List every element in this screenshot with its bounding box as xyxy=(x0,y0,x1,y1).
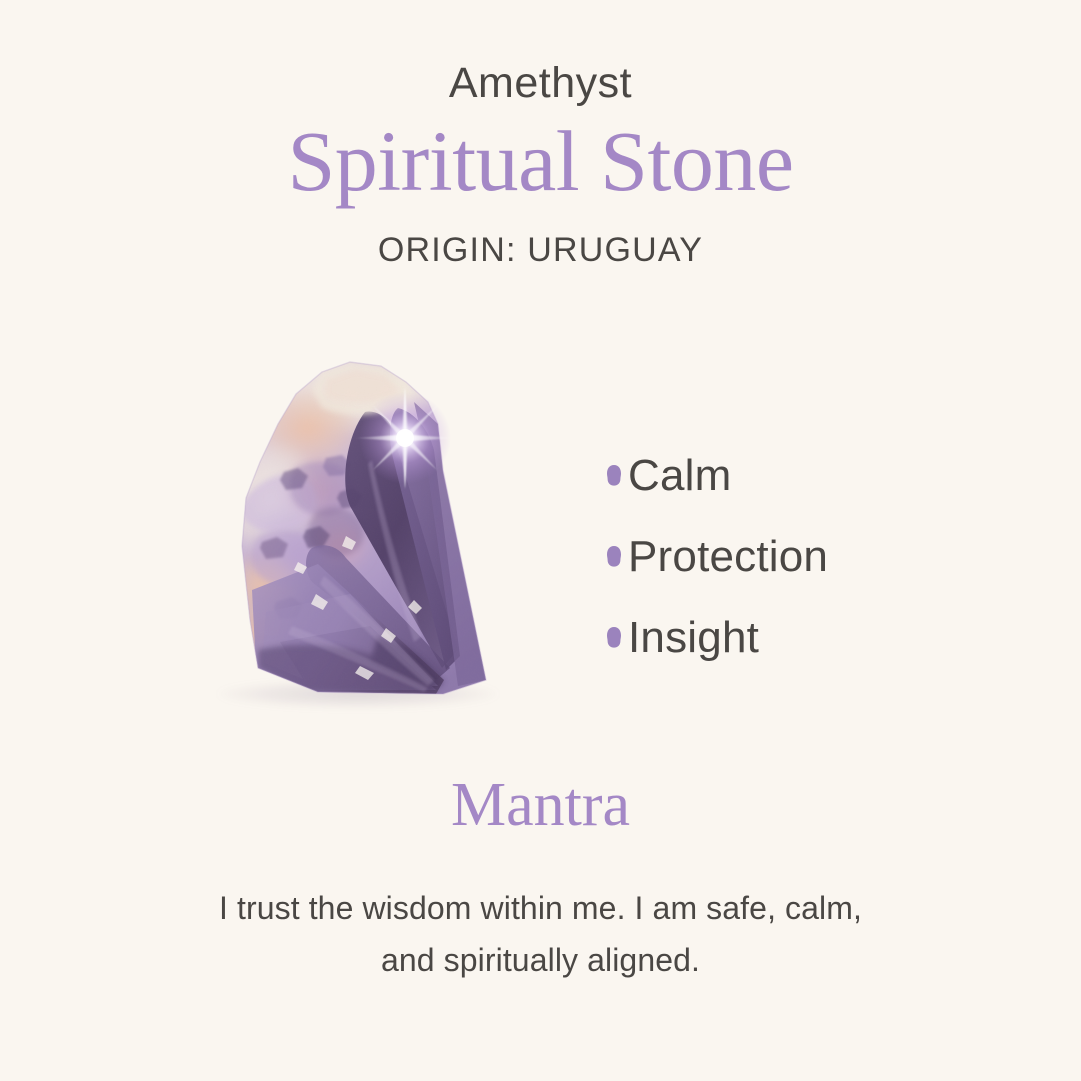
origin-label: ORIGIN: URUGUAY xyxy=(0,210,1081,269)
benefit-item-calm: Calm xyxy=(600,435,1000,516)
middle-section: Calm Protection Insight xyxy=(0,340,1081,740)
gem-bullet-icon xyxy=(600,461,628,491)
benefit-label: Protection xyxy=(628,535,828,579)
amethyst-crystal-card: Amethyst Spiritual Stone ORIGIN: URUGUAY xyxy=(0,0,1081,1081)
mantra-title: Mantra xyxy=(0,770,1081,841)
crystal-illustration xyxy=(200,350,520,720)
card-header: Amethyst Spiritual Stone ORIGIN: URUGUAY xyxy=(0,0,1081,269)
benefit-label: Calm xyxy=(628,454,731,498)
gem-bullet-icon xyxy=(600,623,628,653)
mantra-text: I trust the wisdom within me. I am safe,… xyxy=(191,841,891,987)
stone-name: Amethyst xyxy=(0,0,1081,107)
benefit-item-insight: Insight xyxy=(600,597,1000,678)
mantra-section: Mantra I trust the wisdom within me. I a… xyxy=(0,770,1081,987)
page-title: Spiritual Stone xyxy=(0,107,1081,209)
benefit-item-protection: Protection xyxy=(600,516,1000,597)
benefits-list: Calm Protection Insight xyxy=(600,435,1000,678)
gem-bullet-icon xyxy=(600,542,628,572)
benefit-label: Insight xyxy=(628,616,759,660)
amethyst-crystal-icon xyxy=(200,350,520,720)
